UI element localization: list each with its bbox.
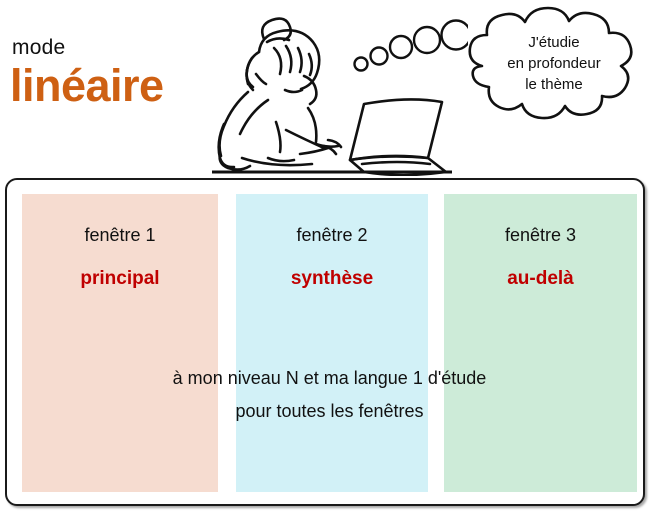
window-column-3-label: fenêtre 3 <box>444 225 637 246</box>
window-column-1[interactable]: fenêtre 1 principal <box>22 194 218 492</box>
window-column-3-value: au-delà <box>444 268 637 290</box>
board-caption: à mon niveau N et ma langue 1 d'étude po… <box>22 362 637 428</box>
window-column-3[interactable]: fenêtre 3 au-delà <box>444 194 637 492</box>
window-column-2-label: fenêtre 2 <box>236 225 428 246</box>
window-column-1-label: fenêtre 1 <box>22 225 218 246</box>
bubble-line-3: le thème <box>525 76 583 93</box>
page-title: linéaire <box>10 62 164 109</box>
board-caption-line-2: pour toutes les fenêtres <box>22 395 637 428</box>
window-column-1-value: principal <box>22 268 218 290</box>
thought-dots-icon <box>352 18 468 74</box>
window-column-2[interactable]: fenêtre 2 synthèse <box>236 194 428 492</box>
header-eyebrow: mode <box>12 36 65 60</box>
board-caption-line-1: à mon niveau N et ma langue 1 d'étude <box>22 362 637 395</box>
slide-canvas: mode linéaire <box>0 0 659 517</box>
bubble-line-1: J'étudie <box>528 34 579 51</box>
window-column-2-value: synthèse <box>236 268 428 290</box>
bubble-line-2: en profondeur <box>507 55 600 72</box>
thought-bubble-text: J'étudie en profondeur le thème <box>470 32 638 95</box>
